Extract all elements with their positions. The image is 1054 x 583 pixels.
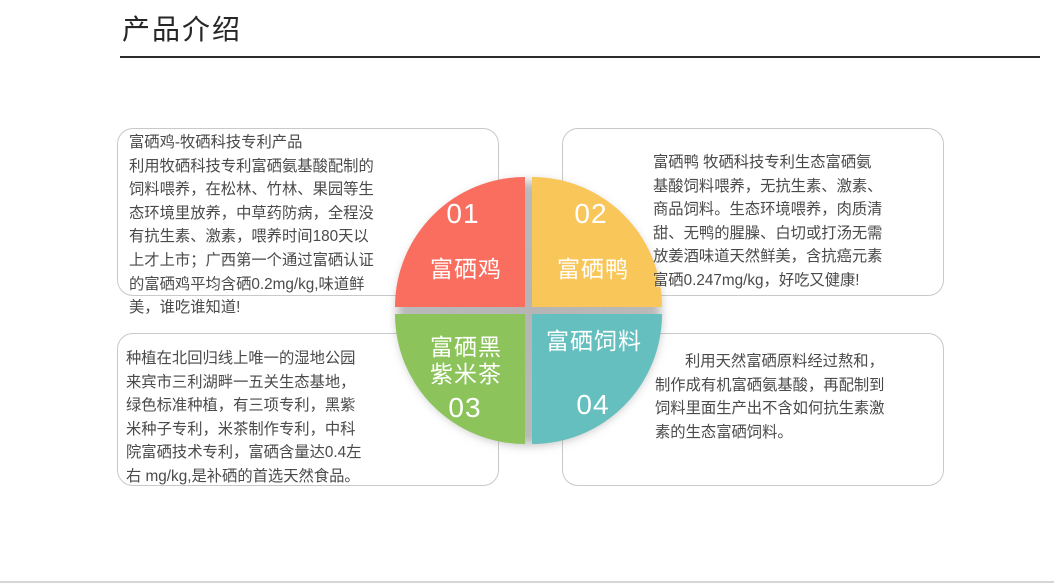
- title-underline: [120, 56, 1040, 58]
- quadrant-02-fuxi-duck[interactable]: 02 富硒鸭: [532, 177, 662, 307]
- description-text-fuxi-feed: 利用天然富硒原料经过熬和， 制作成有机富硒氨基酸，再配制到 饲料里面生产出不含如…: [655, 350, 945, 444]
- quadrant-number: 02: [574, 198, 607, 230]
- quadrant-number: 04: [576, 389, 609, 421]
- quadrant-label: 富硒鸭: [557, 256, 629, 283]
- description-text-fuxi-duck: 富硒鸭 牧硒科技专利生态富硒氨 基酸饲料喂养，无抗生素、激素、 商品饲料。生态环…: [653, 151, 945, 293]
- description-text-fuxi-chicken: 富硒鸡-牧硒科技专利产品 利用牧硒科技专利富硒氨基酸配制的 饲料喂养，在松林、竹…: [129, 131, 501, 320]
- quadrant-04-fuxi-feed[interactable]: 富硒饲料 04: [532, 314, 662, 444]
- slide: 产品介绍 富硒鸡-牧硒科技专利产品 利用牧硒科技专利富硒氨基酸配制的 饲料喂养，…: [0, 0, 1054, 583]
- page-title: 产品介绍: [120, 10, 1040, 56]
- description-text-fuxi-black-purple-rice-tea: 种植在北回归线上唯一的湿地公园 来宾市三利湖畔一五关生态基地， 绿色标准种植，有…: [126, 347, 502, 489]
- quadrant-label: 富硒饲料: [546, 328, 642, 355]
- slide-header: 产品介绍: [120, 10, 1040, 58]
